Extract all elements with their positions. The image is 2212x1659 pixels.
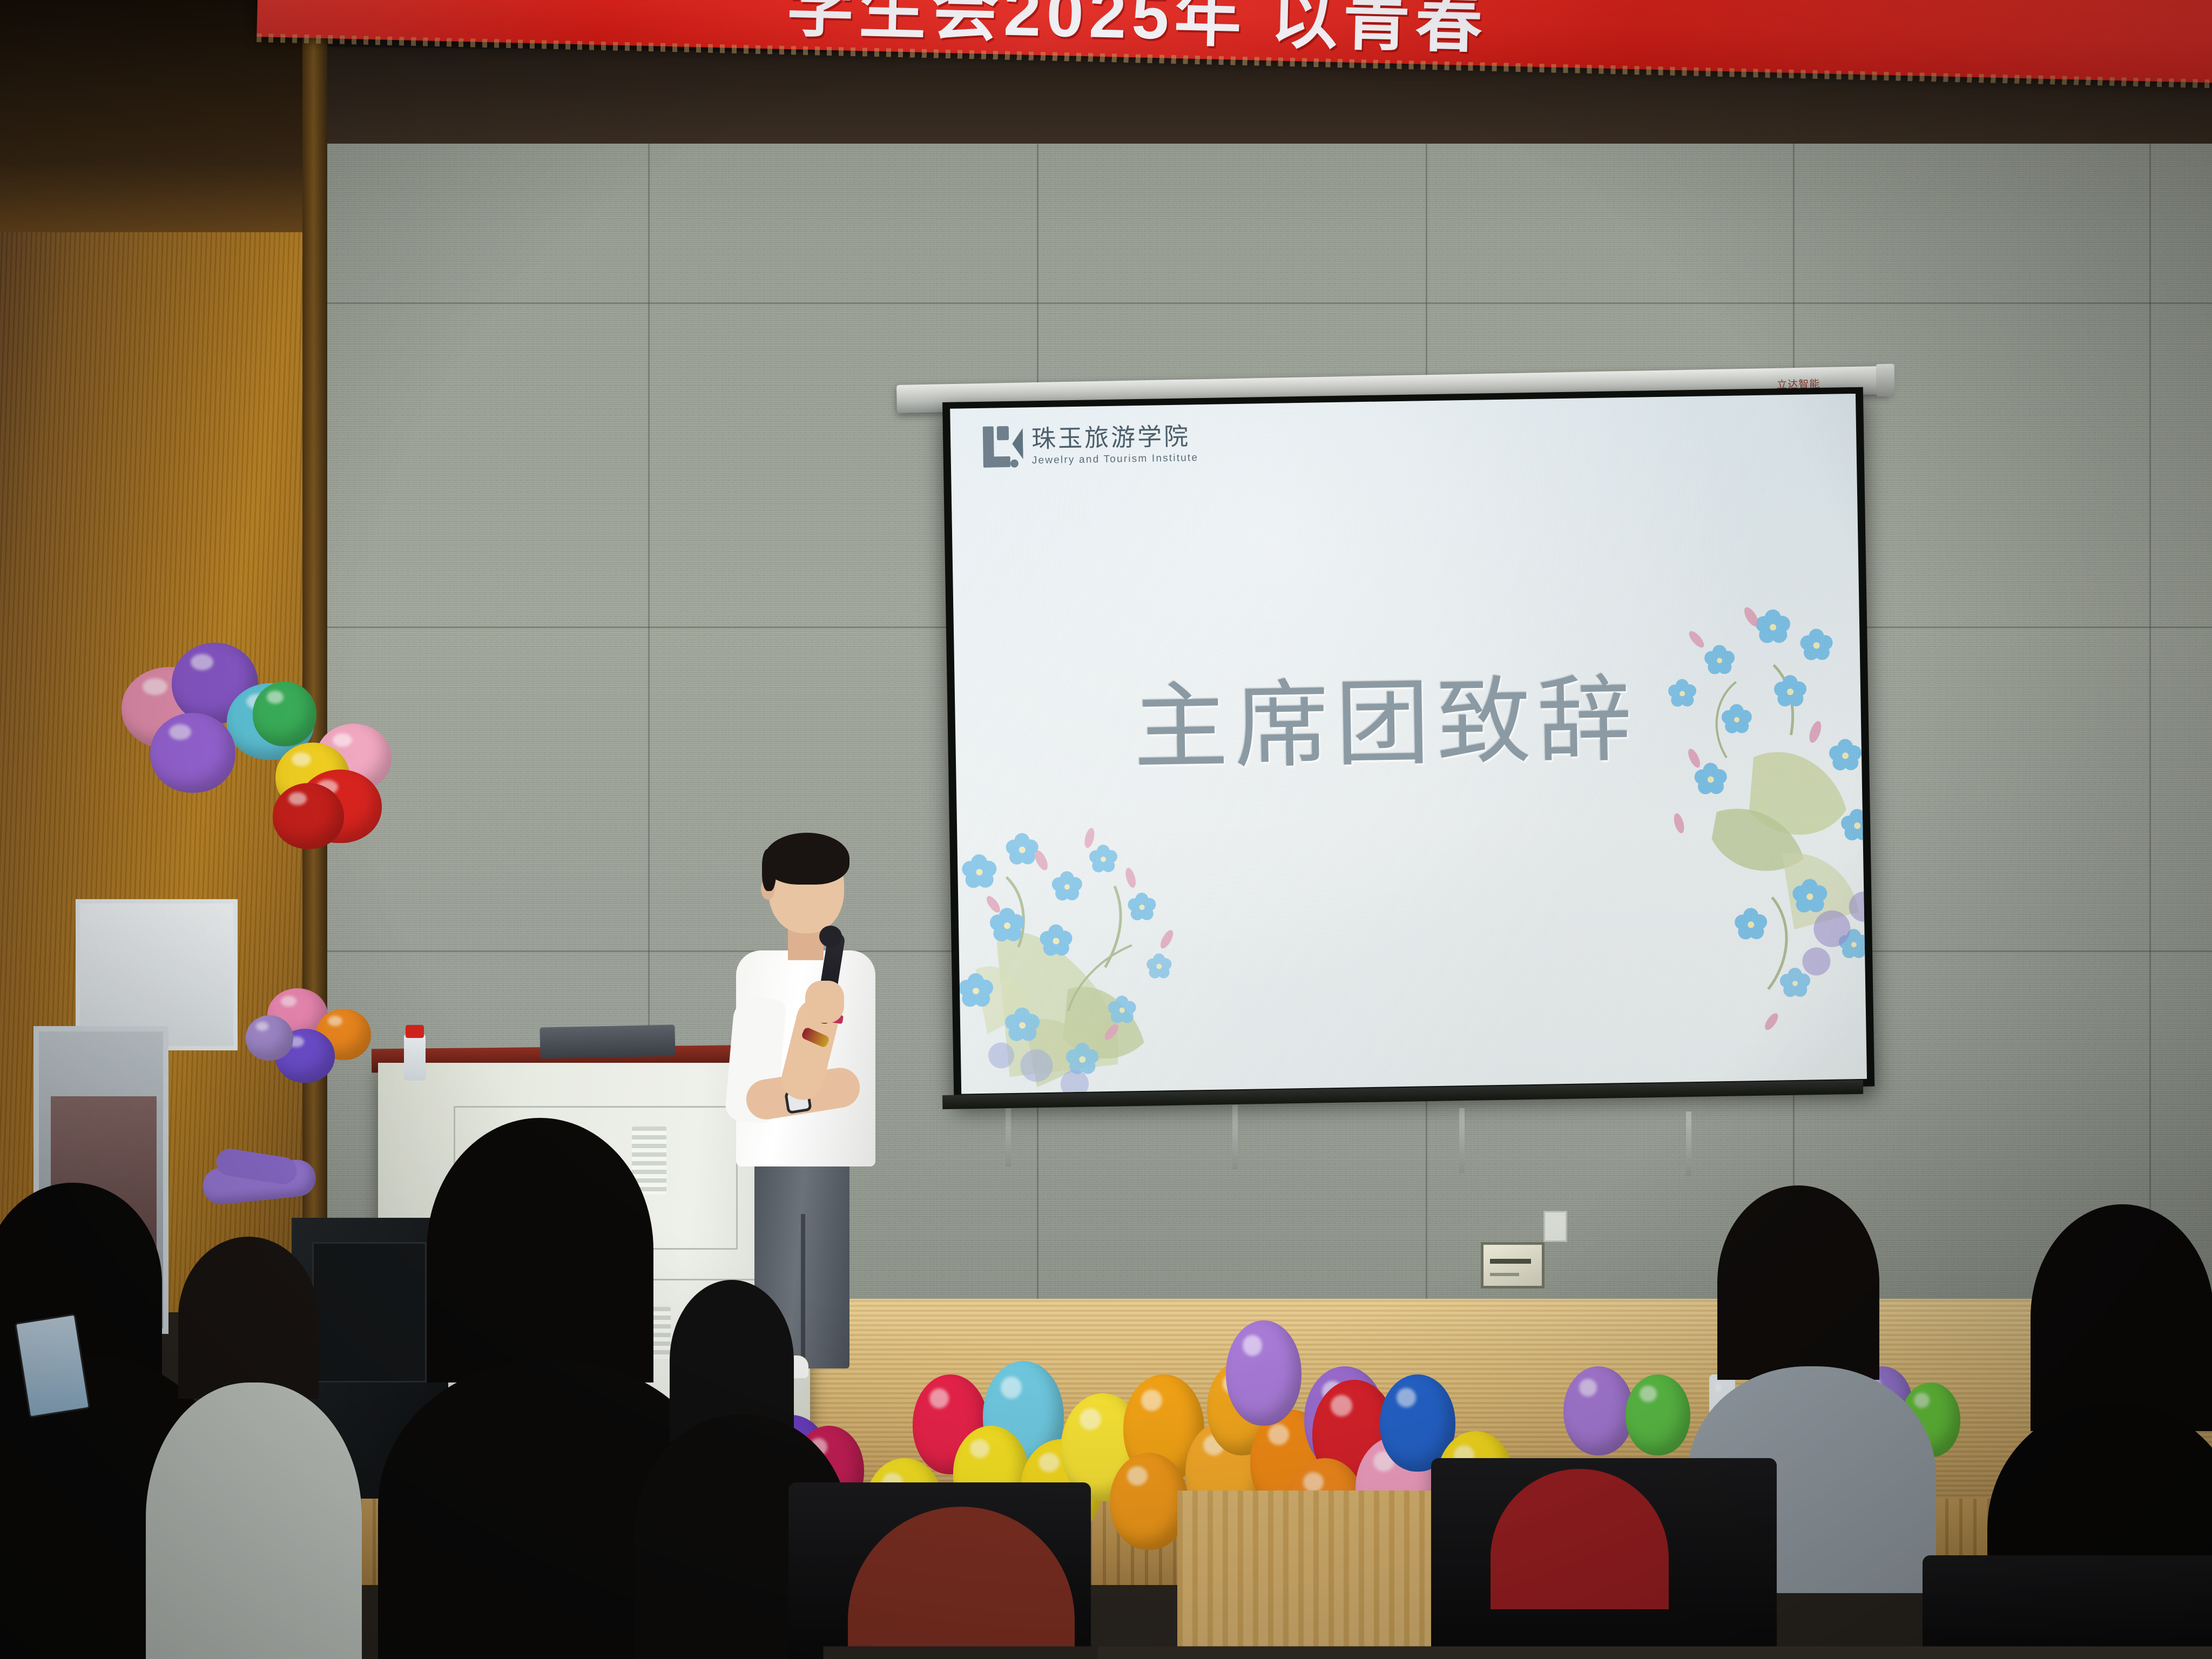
audience-body (146, 1382, 362, 1659)
balloon (273, 783, 344, 849)
auditorium-seat (1923, 1555, 2212, 1659)
audience-head (2031, 1204, 2212, 1431)
balloon (1626, 1374, 1690, 1455)
roller-end-cap (1876, 364, 1895, 397)
podium-laptop[interactable] (539, 1024, 675, 1058)
speaker-hair (764, 833, 849, 885)
plaque-text-line (1490, 1259, 1531, 1264)
microphone-head (819, 926, 842, 947)
screen-strap (1686, 1111, 1691, 1176)
audience-head (178, 1237, 319, 1399)
screen-strap (1232, 1105, 1238, 1170)
screen-strap (1459, 1108, 1465, 1173)
balloon (1226, 1320, 1301, 1426)
slide-surface: 珠玉旅游学院 Jewelry and Tourism Institute 主席团… (950, 394, 1867, 1094)
stage-wood-cladding (1177, 1491, 1437, 1659)
balloon (246, 1015, 293, 1061)
wall-tile-seam (302, 302, 2212, 304)
speaker-leg-gap (801, 1214, 805, 1371)
balloon (253, 682, 316, 746)
balloon (1563, 1366, 1634, 1455)
wall-outlet (1543, 1211, 1567, 1242)
bottle-cap (406, 1025, 424, 1038)
audience-head (427, 1118, 653, 1382)
photo-canvas: 学生会2025年 以青春 立达智能 (0, 0, 2212, 1659)
wall-tile-seam (2149, 0, 2151, 1312)
speaker-grille (312, 1242, 427, 1382)
institute-logo-icon (983, 426, 1023, 468)
slide-title: 主席团致辞 (1132, 643, 1640, 788)
screen-strap (1006, 1102, 1011, 1166)
projection-screen: 珠玉旅游学院 Jewelry and Tourism Institute 主席团… (942, 387, 1874, 1102)
wall-plaque (1481, 1242, 1545, 1289)
speaker-hand (805, 981, 844, 1023)
balloon (150, 713, 235, 793)
speaker-hair-side (762, 849, 776, 891)
wood-panel-edge (302, 0, 327, 1312)
slide-logo: 珠玉旅游学院 Jewelry and Tourism Institute (983, 423, 1199, 468)
audience-head (1717, 1185, 1879, 1380)
water-bottle[interactable] (404, 1034, 426, 1081)
plaque-text-line (1490, 1273, 1519, 1276)
logo-chinese-name: 珠玉旅游学院 (1031, 424, 1198, 451)
balloon (1110, 1453, 1188, 1550)
